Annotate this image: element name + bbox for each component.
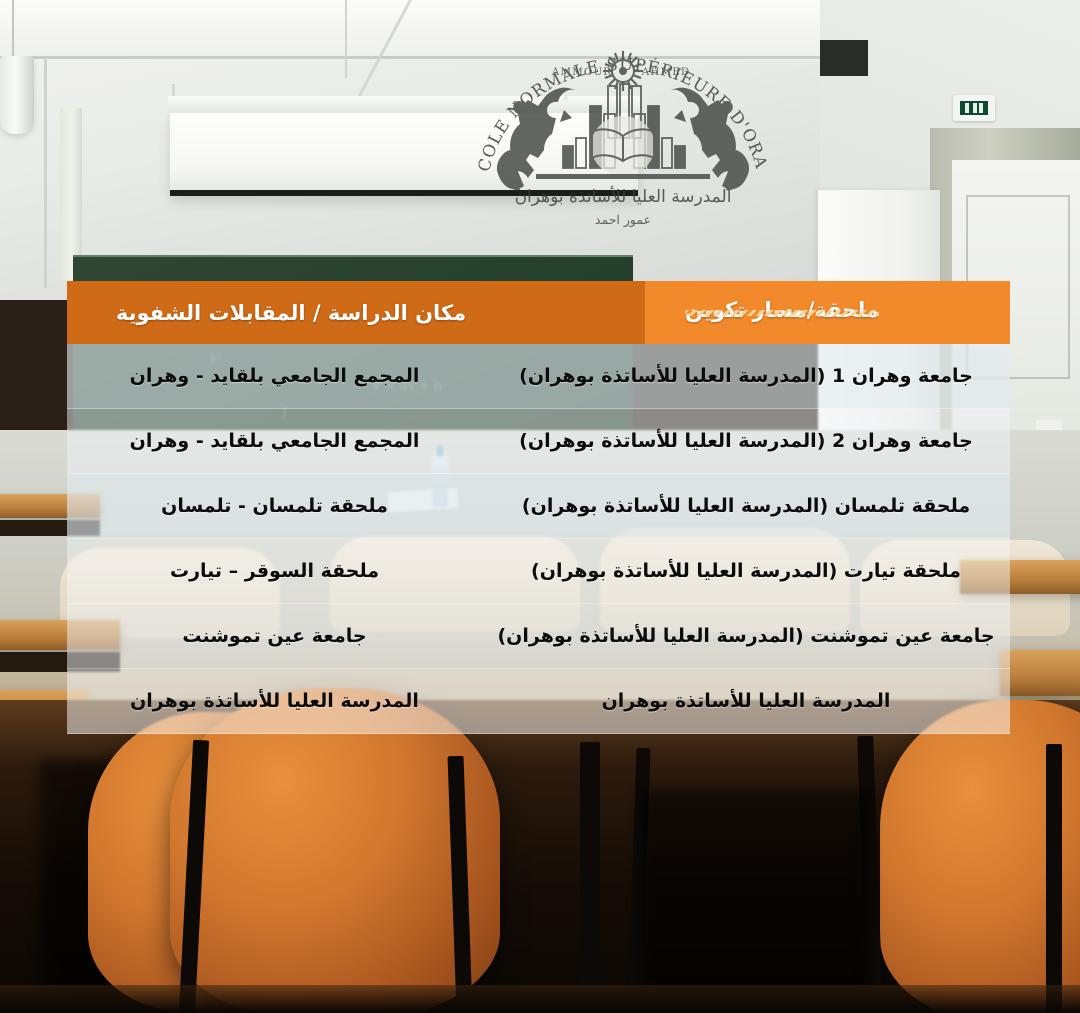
- table-row: ملحقة تلمسان (المدرسة العليا للأساتذة بو…: [67, 474, 1010, 539]
- wall-corner-edge: [44, 58, 47, 288]
- cell-track: جامعة عين تموشنت (المدرسة العليا للأساتذ…: [482, 625, 1010, 649]
- cell-location: جامعة عين تموشنت: [67, 625, 482, 649]
- column-header-location: مكان الدراسة / المقابلات الشفوية: [81, 281, 501, 344]
- column-header-track: ملحقة/مسار تكوين: [572, 281, 992, 344]
- cell-location: المدرسة العليا للأساتذة بوهران: [67, 690, 482, 714]
- table-header-row: ملحقة/مسار تكوين مكان الدراسة / المقابلا…: [67, 281, 1010, 344]
- floor-gradient: [0, 985, 1080, 1013]
- cell-track: جامعة وهران 1 (المدرسة العليا للأساتذة ب…: [482, 365, 1010, 389]
- logo-right-name: AHMED: [641, 66, 691, 78]
- cell-location: المجمع الجامعي بلقايد - وهران: [67, 430, 482, 454]
- logo-base-bar: [536, 174, 710, 179]
- cell-track: ملحقة تيارت (المدرسة العليا للأساتذة بوه…: [482, 560, 1010, 584]
- chair-shadow: [640, 790, 870, 1010]
- table-row: ملحقة تيارت (المدرسة العليا للأساتذة بوه…: [67, 539, 1010, 604]
- exit-sign-icon: [953, 95, 995, 121]
- wall-vent: [820, 40, 868, 76]
- second-lamp-cord: [345, 0, 347, 78]
- info-table: ملحقة/مسار تكوين مكان الدراسة / المقابلا…: [67, 281, 1010, 745]
- cell-track: جامعة وهران 2 (المدرسة العليا للأساتذة ب…: [482, 430, 1010, 454]
- column-header-location-label: مكان الدراسة / المقابلات الشفوية: [116, 301, 466, 325]
- cell-track: المدرسة العليا للأساتذة بوهران: [482, 690, 1010, 714]
- table-row: المدرسة العليا للأساتذة بوهران المدرسة ا…: [67, 669, 1010, 734]
- chair-leg: [580, 742, 600, 1013]
- ens-oran-logo: ECOLE NORMALE SUPÉRIEURE D'ORAN A: [468, 18, 778, 244]
- table-body: جامعة وهران 1 (المدرسة العليا للأساتذة ب…: [67, 344, 1010, 734]
- logo-left-name: AMMOUR: [551, 66, 613, 78]
- cell-location: ملحقة السوقر – تيارت: [67, 560, 482, 584]
- chair-leg: [1046, 744, 1062, 1013]
- table-row: جامعة وهران 2 (المدرسة العليا للأساتذة ب…: [67, 409, 1010, 474]
- desk-surface: [1000, 650, 1080, 696]
- lamp-cord: [12, 0, 14, 58]
- cell-location: المجمع الجامعي بلقايد - وهران: [67, 365, 482, 389]
- ceiling-lamp-icon: [0, 56, 34, 134]
- poster: f(x) Σ lim x² ∫ y = ax + b: [0, 0, 1080, 1013]
- wavy-underline-icon: [685, 310, 879, 316]
- table-row: جامعة عين تموشنت (المدرسة العليا للأساتذ…: [67, 604, 1010, 669]
- logo-arabic-title: المدرسة العليا للأساتذة بوهران: [515, 186, 732, 207]
- logo-arabic-subtitle: عمور احمد: [595, 212, 651, 228]
- cell-location: ملحقة تلمسان - تلمسان: [67, 495, 482, 519]
- cell-track: ملحقة تلمسان (المدرسة العليا للأساتذة بو…: [482, 495, 1010, 519]
- table-row: جامعة وهران 1 (المدرسة العليا للأساتذة ب…: [67, 344, 1010, 409]
- open-book-icon: [591, 116, 655, 176]
